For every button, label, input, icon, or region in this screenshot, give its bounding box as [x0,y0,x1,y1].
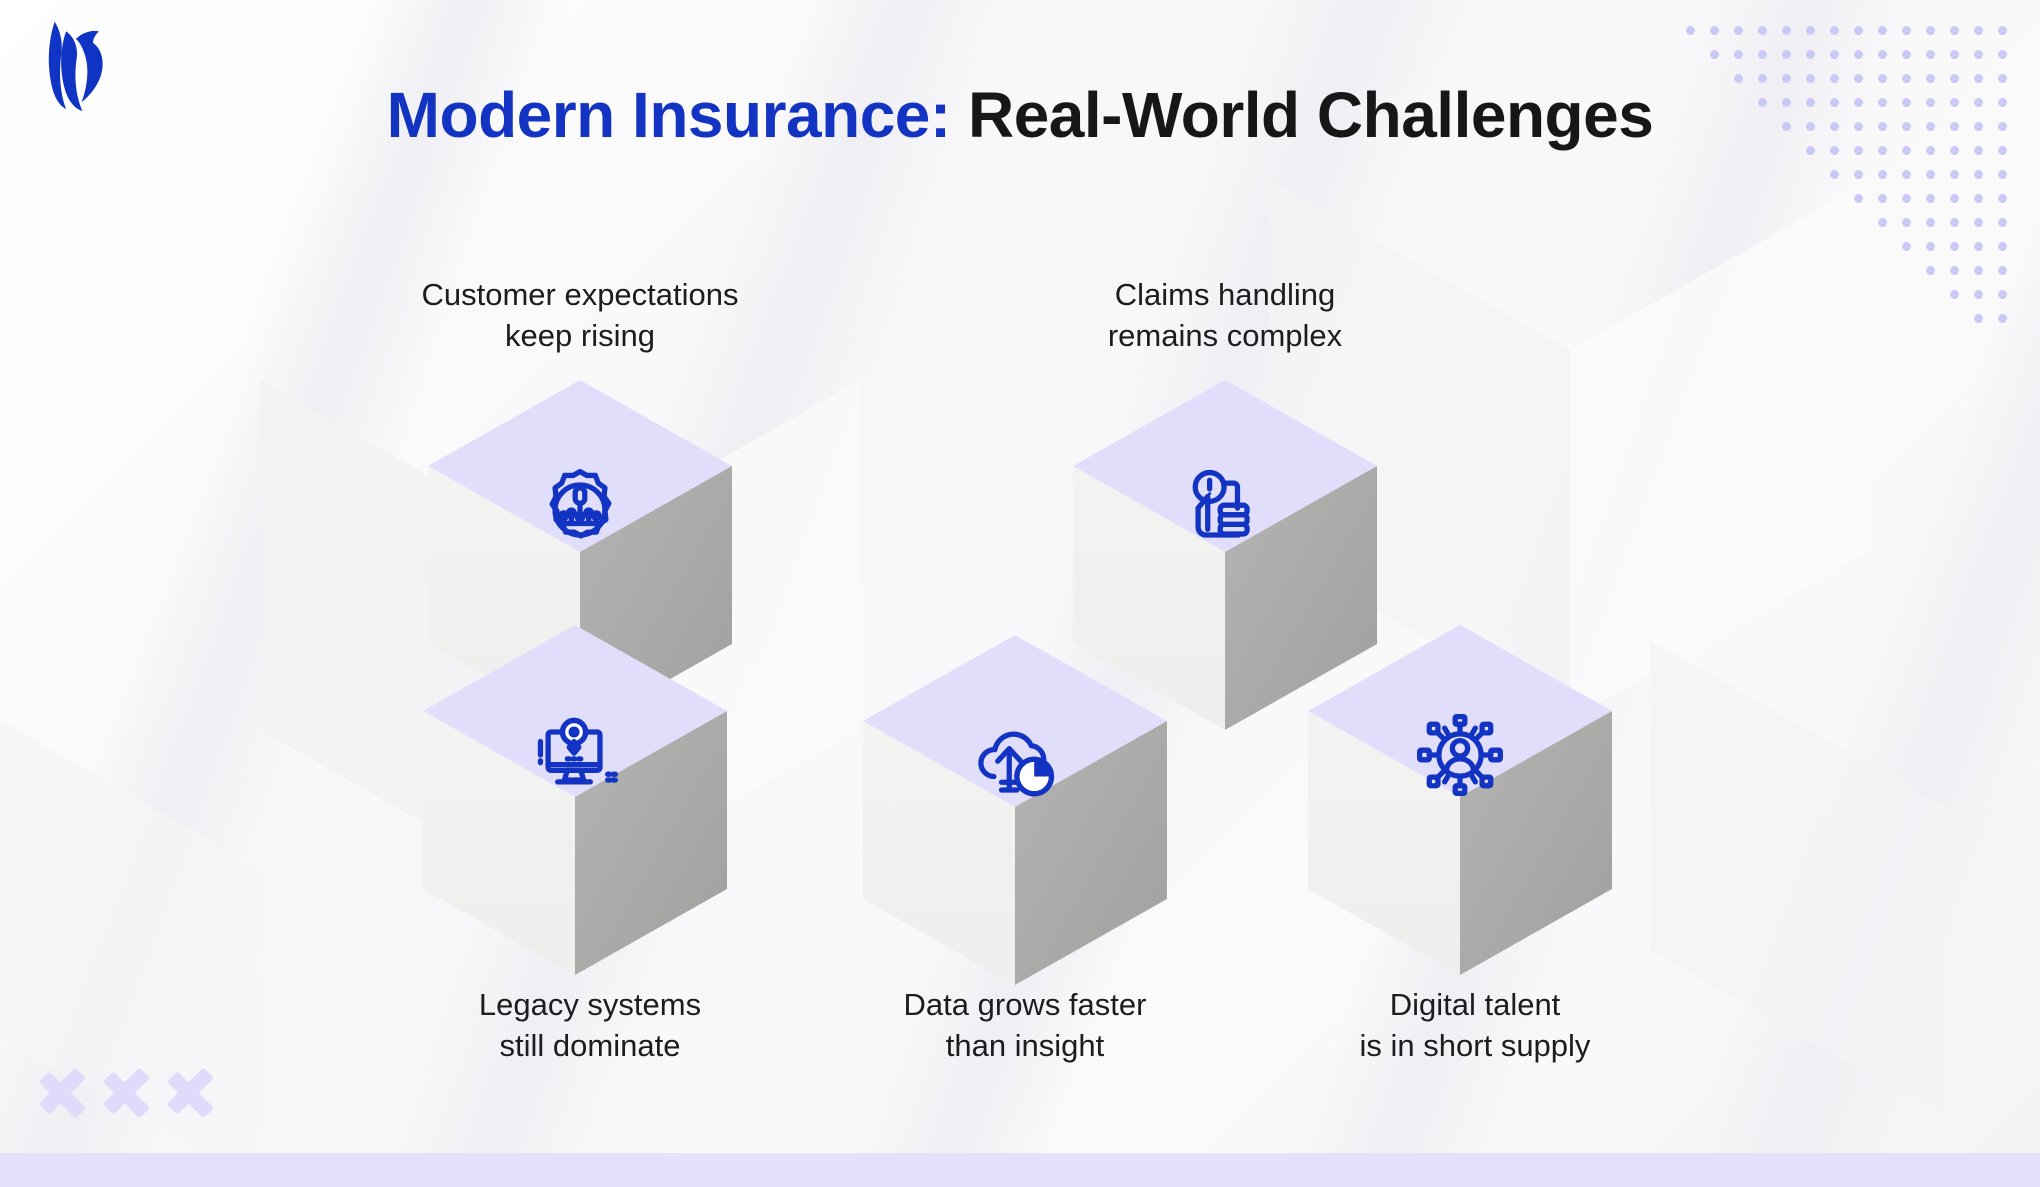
caption-line-2: keep rising [370,316,790,357]
cube-legacy-systems[interactable] [415,615,735,1035]
caption-line-1: Data grows faster [815,985,1235,1026]
dot-grid-decoration [1686,18,2022,330]
caption-claims-handling: Claims handling remains complex [1015,275,1435,357]
desktop-disk-download-icon [527,707,623,803]
hand-documents-alert-icon [1177,462,1273,558]
title-rest: Real-World Challenges [951,79,1654,151]
caption-line-2: is in short supply [1265,1026,1685,1067]
caption-line-2: still dominate [380,1026,800,1067]
caption-legacy-systems: Legacy systems still dominate [380,985,800,1067]
caption-line-1: Digital talent [1265,985,1685,1026]
cube-digital-talent[interactable] [1300,615,1620,1035]
gear-hierarchy-icon [532,462,628,558]
caption-line-2: than insight [815,1026,1235,1067]
person-network-icon [1412,707,1508,803]
caption-data-growth: Data grows faster than insight [815,985,1235,1067]
title-accent: Modern Insurance: [387,79,951,151]
page-title: Modern Insurance: Real-World Challenges [0,78,2040,152]
slide-canvas: Modern Insurance: Real-World Challenges [0,0,2040,1187]
bottom-accent-bar [0,1153,2040,1187]
caption-line-1: Claims handling [1015,275,1435,316]
chevron-right-icon [102,1059,156,1127]
caption-line-1: Customer expectations [370,275,790,316]
caption-customer-expectations: Customer expectations keep rising [370,275,790,357]
cloud-upload-chart-icon [967,717,1063,813]
caption-line-1: Legacy systems [380,985,800,1026]
chevron-decoration [38,1059,220,1127]
caption-digital-talent: Digital talent is in short supply [1265,985,1685,1067]
chevron-right-icon [166,1059,220,1127]
cube-data-growth[interactable] [855,625,1175,1045]
chevron-right-icon [38,1059,92,1127]
caption-line-2: remains complex [1015,316,1435,357]
